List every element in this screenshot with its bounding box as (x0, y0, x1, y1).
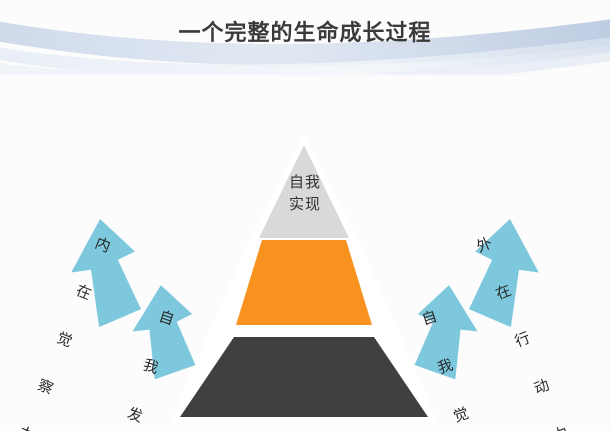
arrow-inner-right-char-2: 我 (431, 355, 460, 379)
arrow-outer-left-char-5: 力 (11, 422, 41, 431)
arrow-inner-left-char-1: 自 (152, 306, 181, 330)
pyramid-apex-label: 自我 实现 (262, 172, 348, 216)
arrow-inner-right-char-1: 自 (415, 306, 444, 330)
arrow-inner-left-char-2: 我 (136, 355, 165, 379)
arrow-inner-left-char-3: 发 (120, 403, 149, 427)
slide-header-band: 一个完整的生命成长过程 (0, 0, 610, 76)
pyramid-apex-label-line2: 实现 (262, 194, 348, 216)
pyramid-apex-label-line1: 自我 (262, 172, 348, 194)
growth-process-diagram: 自我 实现 内 在 觉 察 力 自 我 发 现 自 我 觉 察 外 在 行 动 (0, 76, 610, 431)
arrow-inner-right-char-3: 觉 (447, 403, 476, 427)
page-title: 一个完整的生命成长过程 (0, 15, 610, 47)
slide-canvas: 一个完整的生命成长过程 (0, 0, 610, 431)
